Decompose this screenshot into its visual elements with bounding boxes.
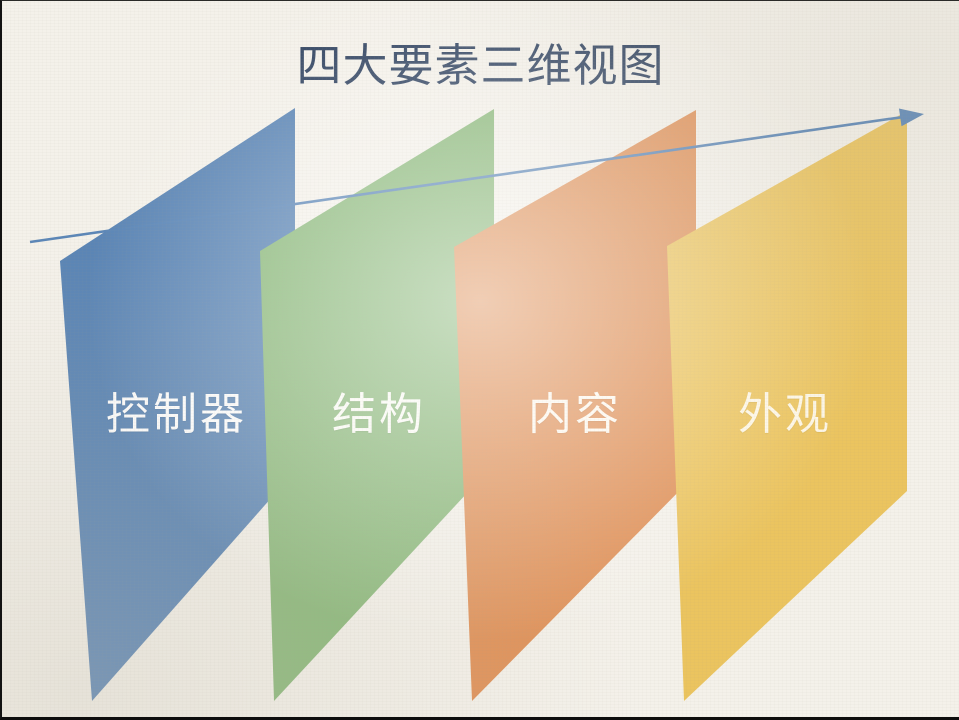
panel-label-appearance: 外观 [738,378,832,442]
arrow-head-icon [899,108,924,126]
panel-label-controller: 控制器 [106,378,247,442]
presentation-slide: 四大要素三维视图 控制器 结构 内容 外观 [0,0,959,720]
page-title: 四大要素三维视图 [2,42,959,89]
panel-label-content: 内容 [528,378,622,442]
panel-label-structure: 结构 [332,378,426,442]
three-dimensional-panels-diagram [2,1,959,720]
